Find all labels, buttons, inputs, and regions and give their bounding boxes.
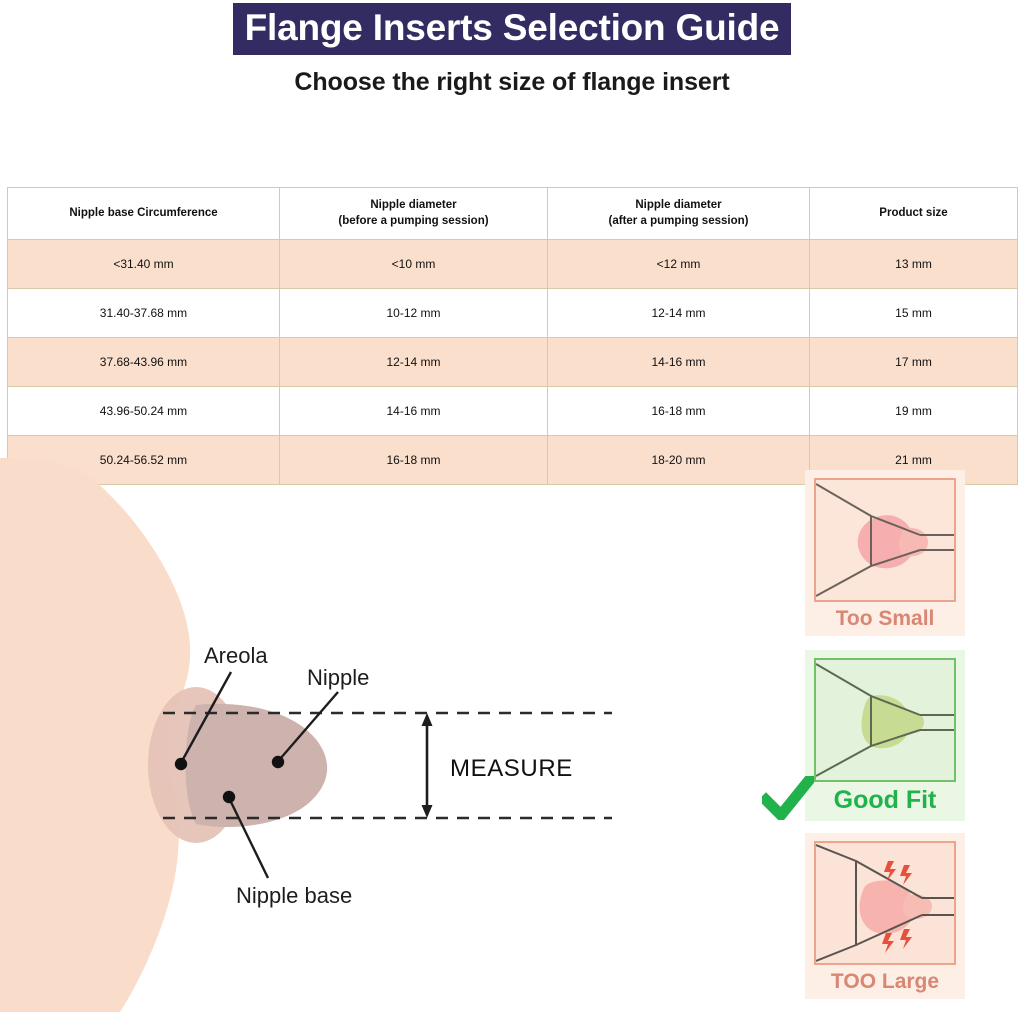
nipple-shape (186, 704, 328, 827)
infographic-page: Flange Inserts Selection Guide Choose th… (0, 0, 1024, 1012)
fit-illustration-too-large (814, 841, 956, 965)
label-measure: MEASURE (450, 755, 573, 783)
fit-illustration-good-fit (814, 658, 956, 782)
fit-panel-too-small: Too Small (805, 470, 965, 636)
funnel-cone-outline (816, 845, 856, 961)
label-areola: Areola (204, 643, 268, 669)
fit-panel-good-fit: Good Fit (805, 650, 965, 821)
check-mark-icon (762, 776, 814, 820)
fit-caption-too-small: Too Small (805, 602, 965, 630)
fit-illustration-too-small (814, 478, 956, 602)
flange-fit-svg-too-large (816, 843, 954, 963)
label-nipple-base: Nipple base (236, 883, 352, 909)
fit-caption-too-large: TOO Large (805, 965, 965, 993)
fit-caption-good-fit: Good Fit (805, 782, 965, 815)
label-nipple: Nipple (307, 665, 369, 691)
fit-panel-too-large: TOO Large (805, 833, 965, 999)
flange-fit-svg-too-small (816, 480, 954, 600)
flange-fit-svg-good-fit (816, 660, 954, 780)
measure-arrow (422, 713, 433, 818)
